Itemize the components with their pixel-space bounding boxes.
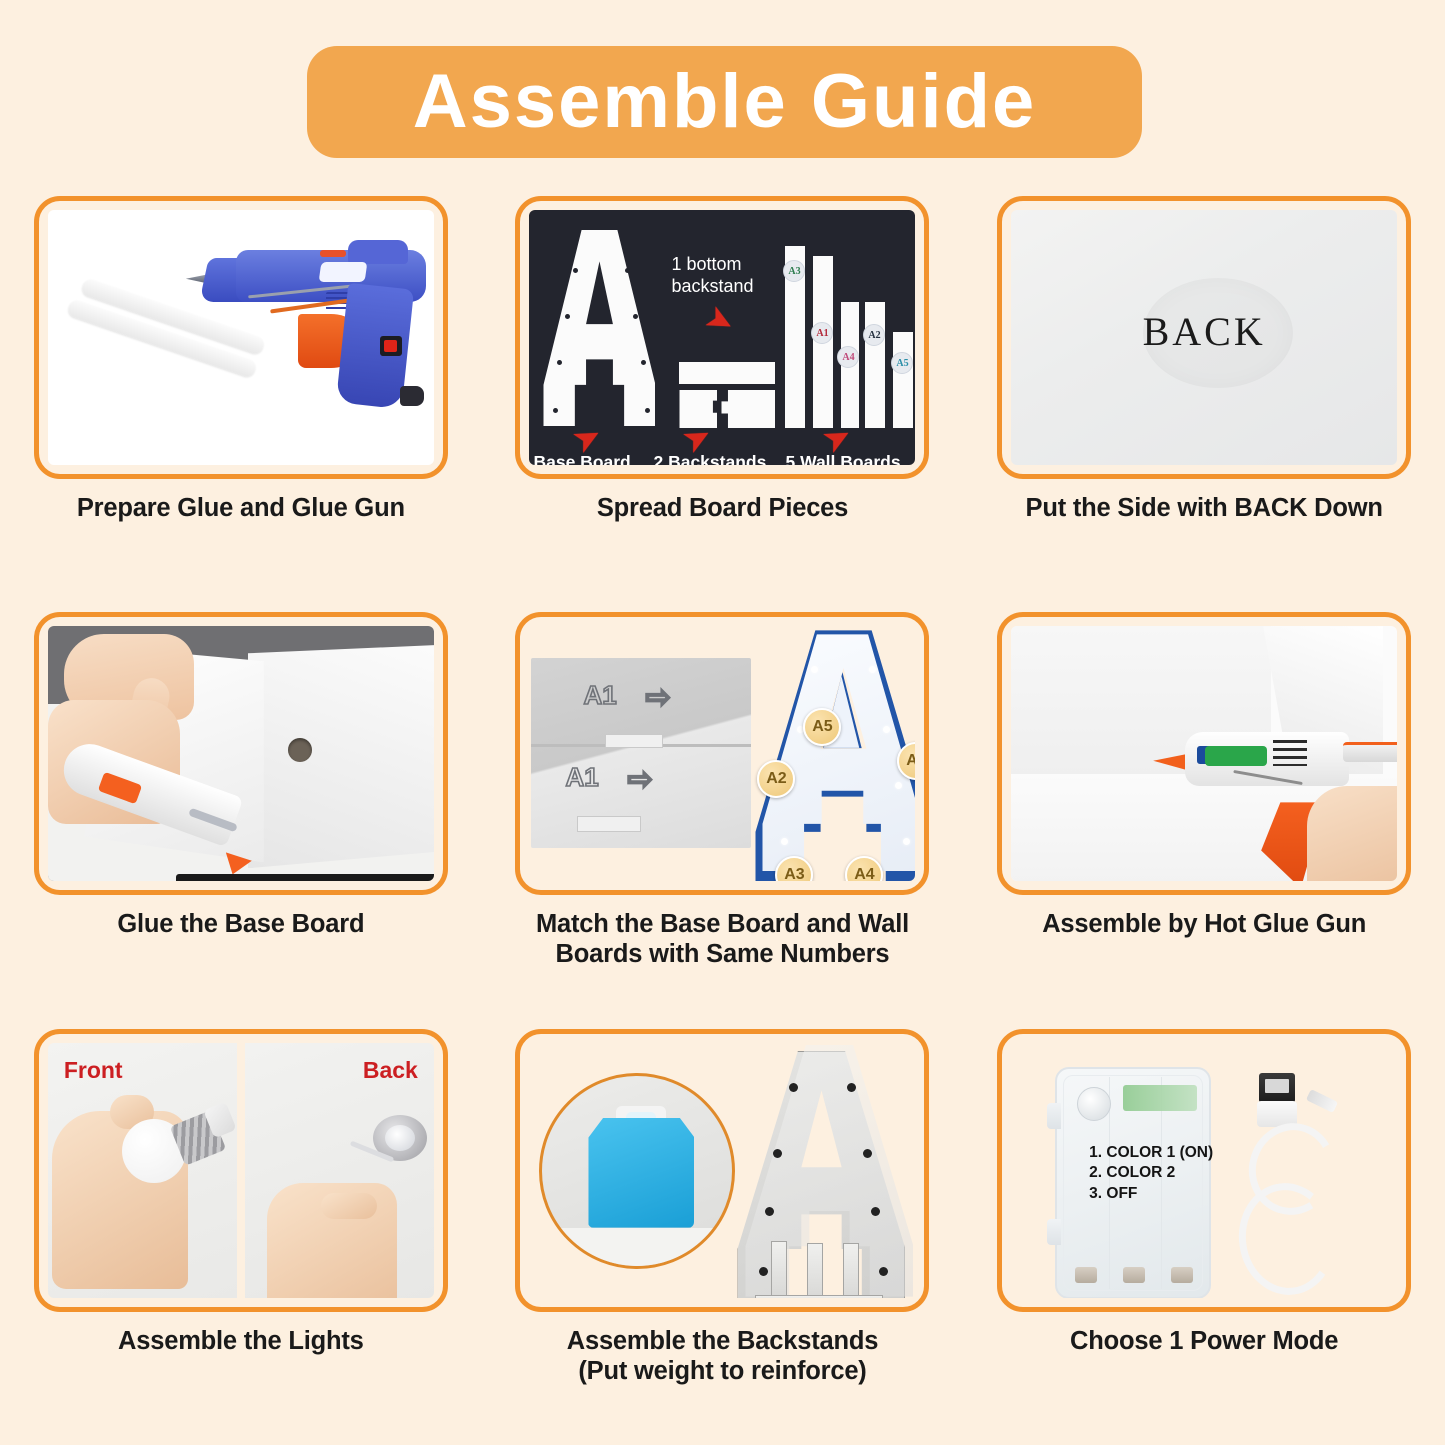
- blue-glue-gun-and-glue-sticks-photo: [48, 210, 434, 465]
- backstand-fin: [771, 1241, 787, 1298]
- step-card-3: BACK Put the Side with BACK Down: [963, 196, 1445, 612]
- power-mode-list: 1. COLOR 1 (ON) 2. COLOR 2 3. OFF: [1089, 1143, 1213, 1205]
- label-wall-boards: 5 Wall Boards: [785, 452, 900, 465]
- step-card-2: A3 A1 A4 A2 A5 1 bottom backstand ➤ ➤ ➤ …: [482, 196, 964, 612]
- step-6-caption: Assemble by Hot Glue Gun: [989, 909, 1419, 939]
- power-switch-icon: [380, 336, 402, 356]
- label-backstands: 2 Backstands: [653, 452, 766, 465]
- wall-board-piece: [248, 644, 434, 868]
- step-1-caption: Prepare Glue and Glue Gun: [26, 493, 456, 523]
- step-8-caption: Assemble the Backstands (Put weight to r…: [507, 1326, 937, 1386]
- step-7-caption: Assemble the Lights: [26, 1326, 456, 1356]
- note-line1: 1 bottom: [671, 254, 741, 274]
- step-1-image-frame: [34, 196, 448, 479]
- step-3-caption-line1: Put the Side with BACK Down: [1026, 494, 1383, 522]
- hot-glue-gun-assembly-photo: [1011, 626, 1397, 881]
- step-3-image-frame: BACK: [997, 196, 1411, 479]
- matching-numbered-boards-photo: A1 ⇨ A1 ⇨: [529, 626, 915, 881]
- step-1-caption-line1: Prepare Glue and Glue Gun: [77, 494, 405, 522]
- wall-board-a5: [893, 332, 913, 428]
- hand-icon: [1307, 786, 1397, 881]
- step-card-5: A1 ⇨ A1 ⇨: [482, 612, 964, 1028]
- battery-box-and-usb-cable-photo: 1. COLOR 1 (ON) 2. COLOR 2 3. OFF: [1011, 1043, 1397, 1298]
- step-5-caption: Match the Base Board and Wall Boards wit…: [507, 909, 937, 969]
- step-5-caption-line1: Match the Base Board and Wall: [536, 910, 909, 938]
- step-2-caption: Spread Board Pieces: [507, 493, 937, 523]
- glue-gun-brand-label: [1205, 746, 1267, 766]
- back-label: BACK: [1011, 308, 1397, 355]
- step-2-image-frame: A3 A1 A4 A2 A5 1 bottom backstand ➤ ➤ ➤ …: [515, 196, 929, 479]
- water-bag-weight-inset: [539, 1073, 735, 1269]
- step-5-image-frame: A1 ⇨ A1 ⇨: [515, 612, 929, 895]
- step-8-caption-line1: Assemble the Backstands: [567, 1327, 878, 1355]
- step-9-caption: Choose 1 Power Mode: [989, 1326, 1419, 1356]
- assembled-letter-a-diagram: [755, 630, 915, 881]
- backstands-with-weight-photo: [529, 1043, 915, 1298]
- marker-a1-bottom: A1: [565, 762, 598, 793]
- step-card-1: Prepare Glue and Glue Gun: [0, 196, 482, 612]
- backstand-fin: [843, 1243, 859, 1298]
- note-line2: backstand: [671, 276, 753, 296]
- power-button-icon[interactable]: [1077, 1087, 1111, 1121]
- step-8-image-frame: [515, 1029, 929, 1312]
- battery-box-icon: 1. COLOR 1 (ON) 2. COLOR 2 3. OFF: [1055, 1067, 1211, 1298]
- wall-board-a2: [865, 302, 885, 428]
- arrow-right-icon: ⇨: [627, 762, 652, 797]
- step-9-caption-line1: Choose 1 Power Mode: [1070, 1327, 1338, 1355]
- arrow-right-icon: ⇨: [645, 680, 670, 715]
- step-4-caption-line1: Glue the Base Board: [117, 910, 364, 938]
- step-5-caption-line2: Boards with Same Numbers: [507, 939, 937, 969]
- page-title: Assemble Guide: [413, 64, 1037, 140]
- step-6-caption-line1: Assemble by Hot Glue Gun: [1042, 910, 1366, 938]
- step-card-7: Front Back: [0, 1029, 482, 1445]
- bulb-front-and-back-photo: Front Back: [48, 1043, 434, 1298]
- back-label: Back: [363, 1057, 418, 1084]
- front-view-photo: Front: [48, 1043, 237, 1298]
- step-7-caption-line1: Assemble the Lights: [118, 1327, 364, 1355]
- backstand-fin: [807, 1243, 823, 1298]
- step-4-caption: Glue the Base Board: [26, 909, 456, 939]
- step-9-image-frame: 1. COLOR 1 (ON) 2. COLOR 2 3. OFF: [997, 1029, 1411, 1312]
- step-8-caption-line2: (Put weight to reinforce): [507, 1356, 937, 1386]
- board-back-side-photo: BACK: [1011, 210, 1397, 465]
- bottom-backstand-note: 1 bottom backstand: [671, 254, 753, 298]
- marker-a1-top: A1: [583, 680, 616, 711]
- numbered-tabs-closeup: A1 ⇨ A1 ⇨: [531, 658, 751, 848]
- step-3-caption: Put the Side with BACK Down: [989, 493, 1419, 523]
- board-pieces-layout-diagram: A3 A1 A4 A2 A5 1 bottom backstand ➤ ➤ ➤ …: [529, 210, 915, 465]
- step-card-4: Glue the Base Board: [0, 612, 482, 1028]
- step-6-image-frame: [997, 612, 1411, 895]
- step-7-image-frame: Front Back: [34, 1029, 448, 1312]
- step-card-6: Assemble by Hot Glue Gun: [963, 612, 1445, 1028]
- steps-grid: Prepare Glue and Glue Gun: [0, 196, 1445, 1445]
- blue-water-bag-icon: [588, 1118, 694, 1228]
- backstand-piece: [721, 390, 775, 428]
- bulb-hole-icon: [288, 738, 312, 762]
- step-card-8: Assemble the Backstands (Put weight to r…: [482, 1029, 964, 1445]
- letter-a-with-backstands-diagram: [737, 1045, 915, 1298]
- back-view-photo: Back: [245, 1043, 434, 1298]
- step-4-image-frame: [34, 612, 448, 895]
- bottom-backstand-base: [755, 1295, 883, 1298]
- assemble-guide-page: Assemble Guide: [0, 0, 1445, 1445]
- step-2-caption-line1: Spread Board Pieces: [597, 494, 848, 522]
- bottom-backstand-piece: [679, 362, 775, 384]
- gluing-base-board-photo: [48, 626, 434, 881]
- step-card-9: 1. COLOR 1 (ON) 2. COLOR 2 3. OFF Choose…: [963, 1029, 1445, 1445]
- front-label: Front: [64, 1057, 123, 1084]
- label-base-board: Base Board: [533, 452, 630, 465]
- page-title-banner: Assemble Guide: [307, 46, 1142, 158]
